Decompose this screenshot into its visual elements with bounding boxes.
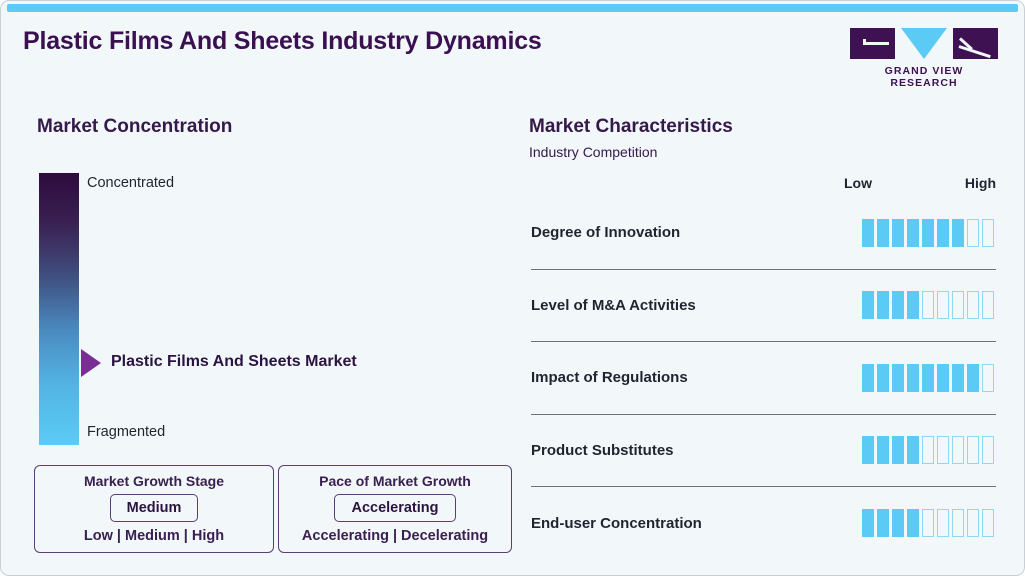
characteristic-label: End-user Concentration	[531, 515, 702, 532]
characteristic-label: Degree of Innovation	[531, 224, 680, 241]
scale-high-label: High	[965, 175, 996, 191]
rating-tick-filled	[862, 509, 874, 537]
growth-pace-value-chip: Accelerating	[334, 494, 455, 522]
characteristic-rating-bars	[862, 436, 994, 464]
rating-tick-empty	[982, 364, 994, 392]
characteristic-row: Level of M&A Activities	[531, 270, 996, 343]
scale-labels: Low High	[844, 175, 996, 191]
rating-tick-empty	[952, 291, 964, 319]
rating-tick-filled	[877, 291, 889, 319]
rating-tick-filled	[892, 436, 904, 464]
logo-wordmark: GRAND VIEW RESEARCH	[850, 65, 998, 89]
growth-pace-scale: Accelerating | Decelerating	[279, 528, 511, 544]
rating-tick-filled	[862, 436, 874, 464]
rating-tick-filled	[922, 219, 934, 247]
rating-tick-empty	[937, 436, 949, 464]
market-position-label: Plastic Films And Sheets Market	[111, 353, 357, 371]
scale-low-label: Low	[844, 175, 872, 191]
rating-tick-filled	[892, 509, 904, 537]
characteristic-rating-bars	[862, 364, 994, 392]
rating-tick-empty	[967, 436, 979, 464]
characteristic-row: End-user Concentration	[531, 487, 996, 560]
growth-stage-scale: Low | Medium | High	[35, 528, 273, 544]
infographic-canvas: Plastic Films And Sheets Industry Dynami…	[0, 0, 1025, 576]
rating-tick-empty	[982, 509, 994, 537]
market-position-marker-icon	[81, 349, 101, 377]
characteristic-label: Impact of Regulations	[531, 369, 688, 386]
rating-tick-empty	[952, 509, 964, 537]
rating-tick-empty	[967, 219, 979, 247]
rating-tick-filled	[877, 509, 889, 537]
rating-tick-empty	[982, 436, 994, 464]
pace-of-market-growth-box: Pace of Market Growth Accelerating Accel…	[278, 465, 512, 553]
logo-left-block-icon	[850, 28, 895, 59]
rating-tick-filled	[862, 291, 874, 319]
concentration-gradient-bar	[39, 173, 79, 445]
growth-pace-value: Accelerating	[351, 500, 438, 516]
characteristic-rating-bars	[862, 219, 994, 247]
rating-tick-filled	[877, 364, 889, 392]
rating-tick-filled	[967, 364, 979, 392]
rating-tick-empty	[982, 291, 994, 319]
rating-tick-filled	[892, 291, 904, 319]
brand-logo: GRAND VIEW RESEARCH	[850, 28, 998, 89]
rating-tick-empty	[922, 436, 934, 464]
characteristic-row: Impact of Regulations	[531, 342, 996, 415]
market-concentration-title: Market Concentration	[37, 116, 232, 138]
rating-tick-filled	[907, 364, 919, 392]
rating-tick-empty	[937, 291, 949, 319]
market-characteristics-title: Market Characteristics	[529, 116, 733, 138]
growth-stage-value: Medium	[127, 500, 182, 516]
growth-pace-title: Pace of Market Growth	[279, 473, 511, 489]
rating-tick-filled	[907, 219, 919, 247]
logo-right-block-icon	[953, 28, 998, 59]
logo-marks	[850, 28, 998, 59]
logo-triangle-icon	[901, 28, 947, 59]
rating-tick-empty	[982, 219, 994, 247]
rating-tick-filled	[892, 219, 904, 247]
rating-tick-filled	[937, 219, 949, 247]
characteristic-row: Product Substitutes	[531, 415, 996, 488]
market-growth-stage-box: Market Growth Stage Medium Low | Medium …	[34, 465, 274, 553]
rating-tick-filled	[892, 364, 904, 392]
rating-tick-filled	[862, 364, 874, 392]
rating-tick-filled	[877, 219, 889, 247]
rating-tick-filled	[937, 364, 949, 392]
rating-tick-empty	[967, 509, 979, 537]
page-title: Plastic Films And Sheets Industry Dynami…	[23, 27, 542, 56]
rating-tick-filled	[922, 364, 934, 392]
concentrated-label: Concentrated	[87, 175, 174, 191]
characteristic-rating-bars	[862, 509, 994, 537]
rating-tick-filled	[877, 436, 889, 464]
rating-tick-filled	[952, 364, 964, 392]
characteristic-label: Level of M&A Activities	[531, 297, 696, 314]
rating-tick-filled	[952, 219, 964, 247]
market-characteristics-subtitle: Industry Competition	[529, 144, 657, 160]
rating-tick-filled	[907, 291, 919, 319]
fragmented-label: Fragmented	[87, 424, 165, 440]
characteristic-label: Product Substitutes	[531, 442, 674, 459]
growth-stage-value-chip: Medium	[110, 494, 199, 522]
rating-tick-filled	[862, 219, 874, 247]
rating-tick-empty	[967, 291, 979, 319]
rating-tick-empty	[952, 436, 964, 464]
characteristics-rows: Degree of InnovationLevel of M&A Activit…	[531, 197, 996, 560]
rating-tick-filled	[907, 509, 919, 537]
characteristic-rating-bars	[862, 291, 994, 319]
rating-tick-filled	[907, 436, 919, 464]
rating-tick-empty	[922, 291, 934, 319]
rating-tick-empty	[937, 509, 949, 537]
rating-tick-empty	[922, 509, 934, 537]
characteristic-row: Degree of Innovation	[531, 197, 996, 270]
top-accent-bar	[7, 4, 1018, 12]
growth-stage-title: Market Growth Stage	[35, 473, 273, 489]
